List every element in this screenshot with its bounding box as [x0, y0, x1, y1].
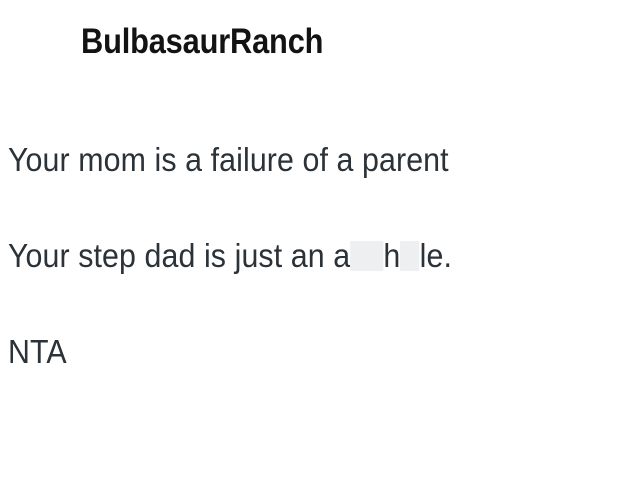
- redaction-box-2: [400, 241, 419, 271]
- post-body-line-3: NTA: [8, 304, 573, 400]
- post-screenshot: BulbasaurRanch Your mom is a failure of …: [0, 0, 630, 500]
- line2-text-middle: h: [383, 237, 400, 274]
- post-author-username: BulbasaurRanch: [81, 22, 323, 62]
- post-body-line-1: Your mom is a failure of a parent: [8, 112, 573, 208]
- post-body: Your mom is a failure of a parent Your s…: [8, 112, 622, 400]
- line2-text-prefix: Your step dad is just an a: [8, 237, 350, 274]
- redaction-box-1: [350, 241, 383, 271]
- line2-text-suffix: le.: [420, 237, 452, 274]
- post-body-line-2: Your step dad is just an ahle.: [8, 208, 573, 304]
